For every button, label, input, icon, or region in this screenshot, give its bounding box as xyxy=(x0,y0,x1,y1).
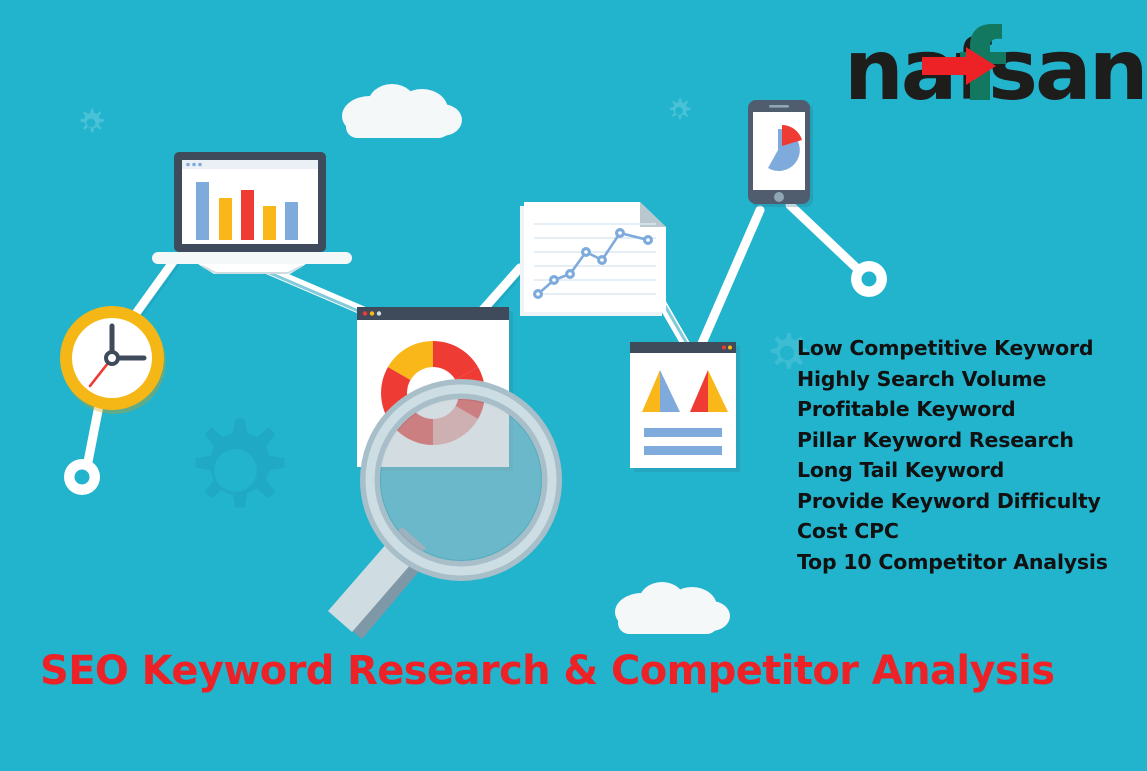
laptop-bar-chart xyxy=(152,150,352,275)
logo-arrow-icon xyxy=(922,46,1000,86)
gear-icon-top-left xyxy=(74,106,108,140)
poster-canvas: nafsan Low Competitive Keyword Highly Se… xyxy=(0,0,1147,771)
clock-icon xyxy=(54,300,174,420)
triangle-chart-card xyxy=(628,340,748,475)
line-chart-document xyxy=(508,198,673,323)
magnifying-glass-icon xyxy=(300,355,580,645)
connector-node-left xyxy=(64,459,100,495)
connector-node-right xyxy=(851,261,887,297)
gear-icon-large-left xyxy=(179,414,292,527)
list-item: Top 10 Competitor Analysis xyxy=(797,547,1137,578)
page-title: SEO Keyword Research & Competitor Analys… xyxy=(40,648,1125,694)
list-item: Provide Keyword Difficulty xyxy=(797,486,1137,517)
feature-list: Low Competitive Keyword Highly Search Vo… xyxy=(797,333,1137,577)
list-item: Low Competitive Keyword xyxy=(797,333,1137,364)
brand-logo[interactable]: nafsan xyxy=(844,18,1119,110)
gear-icon-top-mid xyxy=(664,96,694,126)
list-item: Profitable Keyword xyxy=(797,394,1137,425)
cloud-top xyxy=(330,78,465,150)
cloud-bottom xyxy=(604,576,734,646)
smartphone-pie-chart xyxy=(745,98,827,210)
list-item: Highly Search Volume xyxy=(797,364,1137,395)
list-item: Long Tail Keyword xyxy=(797,455,1137,486)
list-item: Pillar Keyword Research xyxy=(797,425,1137,456)
list-item: Cost CPC xyxy=(797,516,1137,547)
